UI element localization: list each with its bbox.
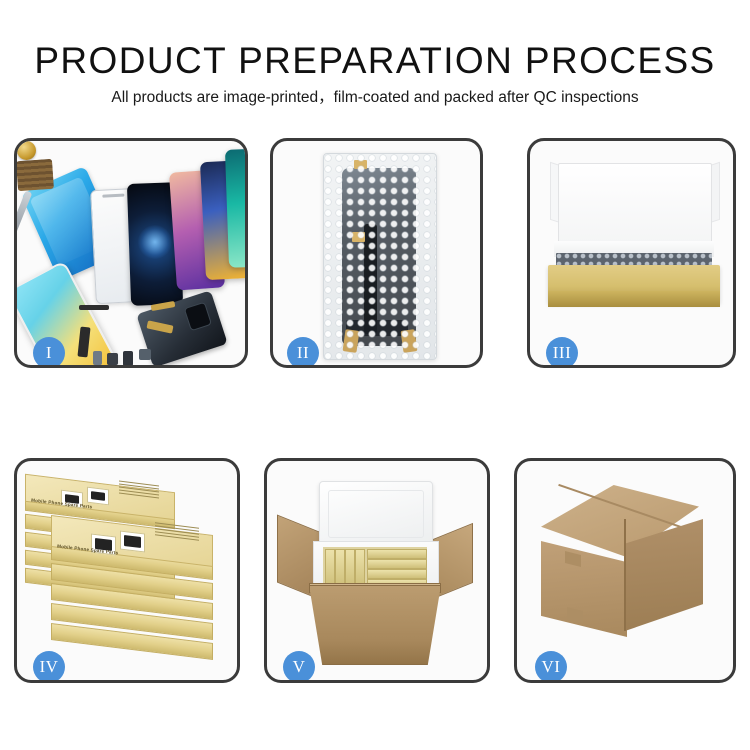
process-step-grid: I II III (14, 138, 736, 683)
process-step-panel-1[interactable]: I (14, 138, 248, 368)
small-component-a (93, 351, 102, 365)
carton-vertical-edge (624, 519, 626, 631)
bubble-wrap-photo (273, 141, 480, 365)
packed-box-6 (367, 559, 427, 569)
step-badge-2: II (287, 337, 319, 368)
process-step-panel-2[interactable]: II (270, 138, 483, 368)
outer-carton-body (309, 585, 441, 665)
process-step-panel-3[interactable]: III (527, 138, 736, 368)
styrofoam-lid (319, 481, 433, 547)
circuit-board-part (17, 159, 54, 191)
speaker-module-part (17, 141, 36, 160)
step-badge-3: III (546, 337, 578, 368)
process-step-panel-5[interactable]: V (264, 458, 490, 683)
carton-front-face (541, 541, 627, 637)
step-badge-1: I (33, 337, 65, 368)
packed-box-2 (335, 549, 345, 587)
retail-box-stack-photo: Mobile Phone Spare Parts Mobile Phone Sp… (17, 461, 237, 680)
packed-retail-boxes (323, 547, 427, 587)
process-step-panel-4[interactable]: Mobile Phone Spare Parts Mobile Phone Sp… (14, 458, 240, 683)
page-header: PRODUCT PREPARATION PROCESS All products… (0, 0, 750, 120)
packed-box-4 (355, 549, 365, 587)
small-component-c (123, 351, 133, 365)
small-component-d (139, 349, 151, 360)
kraft-box-front-wall (548, 291, 720, 307)
packed-box-1 (325, 549, 335, 587)
page-subtitle: All products are image-printed，film-coat… (0, 88, 750, 108)
packed-box-5 (367, 549, 427, 559)
bubble-texture (324, 154, 436, 359)
sealed-carton-photo (517, 461, 733, 680)
product-parts-photo (17, 141, 245, 365)
packed-box-3 (345, 549, 355, 587)
inner-box-photo (530, 141, 733, 365)
page-title: PRODUCT PREPARATION PROCESS (0, 41, 750, 81)
step-badge-4: IV (33, 651, 65, 683)
small-component-b (107, 353, 118, 365)
box-window-back-2 (87, 487, 109, 506)
bubble-wrap-bag (323, 153, 437, 360)
foam-carton-photo (267, 461, 487, 680)
step-badge-5: V (283, 651, 315, 683)
flex-cable-part (79, 305, 109, 310)
box-window-front-2 (120, 530, 145, 552)
packed-box-7 (367, 569, 427, 579)
process-step-panel-6[interactable]: VI (514, 458, 736, 683)
phone-teal-display (225, 148, 245, 268)
step-badge-6: VI (535, 651, 567, 683)
